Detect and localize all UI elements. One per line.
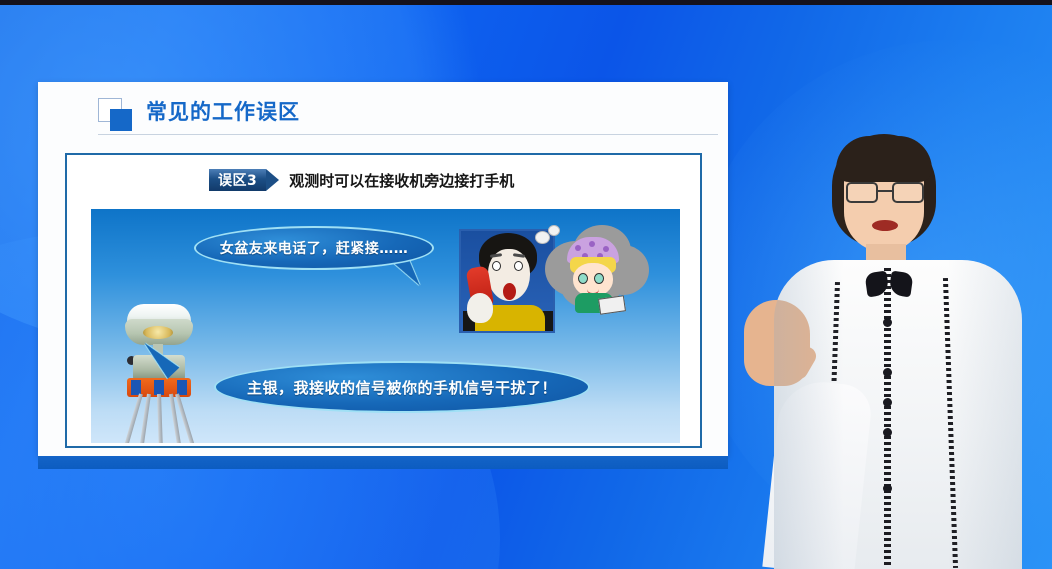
receiver-ring (143, 326, 173, 339)
thought-cloud-icon (535, 217, 653, 317)
slide-header: 常见的工作误区 (38, 82, 728, 137)
mime-hand (467, 293, 493, 323)
slide-footer-bar (38, 456, 728, 469)
presenter-hair-top (836, 136, 932, 182)
shirt-button (883, 368, 892, 377)
content-frame: 误区3 观测时可以在接收机旁边接打手机 (65, 153, 702, 448)
speech-bubble-bottom-text: 主银，我接收的信号被你的手机信号干扰了！ (247, 377, 557, 398)
bow-tie-icon (866, 272, 914, 296)
speech-bubble-top-text: 女盆友来电话了，赶紧接…… (220, 238, 409, 258)
girl-eye (578, 273, 588, 284)
misconception-badge: 误区3 (209, 169, 266, 191)
gnss-receiver-icon (105, 304, 213, 439)
glasses-lens (846, 182, 878, 203)
presenter-overlay (726, 132, 1052, 569)
top-letterbox-bar (0, 0, 1052, 5)
misconception-heading: 观测时可以在接收机旁边接打手机 (289, 170, 514, 191)
two-squares-icon (98, 98, 138, 132)
mime-eye (492, 261, 501, 271)
misconception-row: 误区3 观测时可以在接收机旁边接打手机 (209, 169, 514, 191)
girl-eye (594, 273, 604, 284)
bow-wing (864, 271, 889, 298)
header-divider (98, 134, 718, 135)
presenter-lips (872, 220, 898, 231)
badge-arrow-icon (266, 169, 279, 191)
shirt-button (883, 428, 892, 437)
cloud-trail-bubble (548, 225, 560, 236)
bow-wing (888, 271, 913, 298)
cartoon-girl (561, 237, 625, 309)
girl-book (598, 295, 626, 314)
square-filled-shape (110, 109, 132, 131)
slide-panel: 常见的工作误区 误区3 观测时可以在接收机旁边接打手机 (38, 82, 728, 456)
speech-bubble-top: 女盆友来电话了，赶紧接…… (194, 226, 434, 270)
mime-mouth (503, 283, 516, 300)
illustration-image: 女盆友来电话了，赶紧接…… 主银，我接收的信号被你的手机信号干扰了！ (91, 209, 680, 443)
glasses-lens (892, 182, 924, 203)
glasses-bridge (878, 190, 892, 192)
shirt-button (883, 484, 892, 493)
shirt-placket (884, 268, 891, 568)
misconception-badge-label: 误区3 (218, 170, 257, 190)
speech-bubble-bottom: 主银，我接收的信号被你的手机信号干扰了！ (214, 361, 590, 413)
slide-title: 常见的工作误区 (146, 96, 300, 126)
tripod-leg (122, 393, 143, 443)
tripod-leg (157, 394, 163, 443)
mime-eye (514, 261, 523, 271)
glasses-icon (846, 182, 924, 203)
video-frame: 常见的工作误区 误区3 观测时可以在接收机旁边接打手机 (0, 0, 1052, 569)
shirt-button (883, 398, 892, 407)
shirt-button (883, 318, 892, 327)
